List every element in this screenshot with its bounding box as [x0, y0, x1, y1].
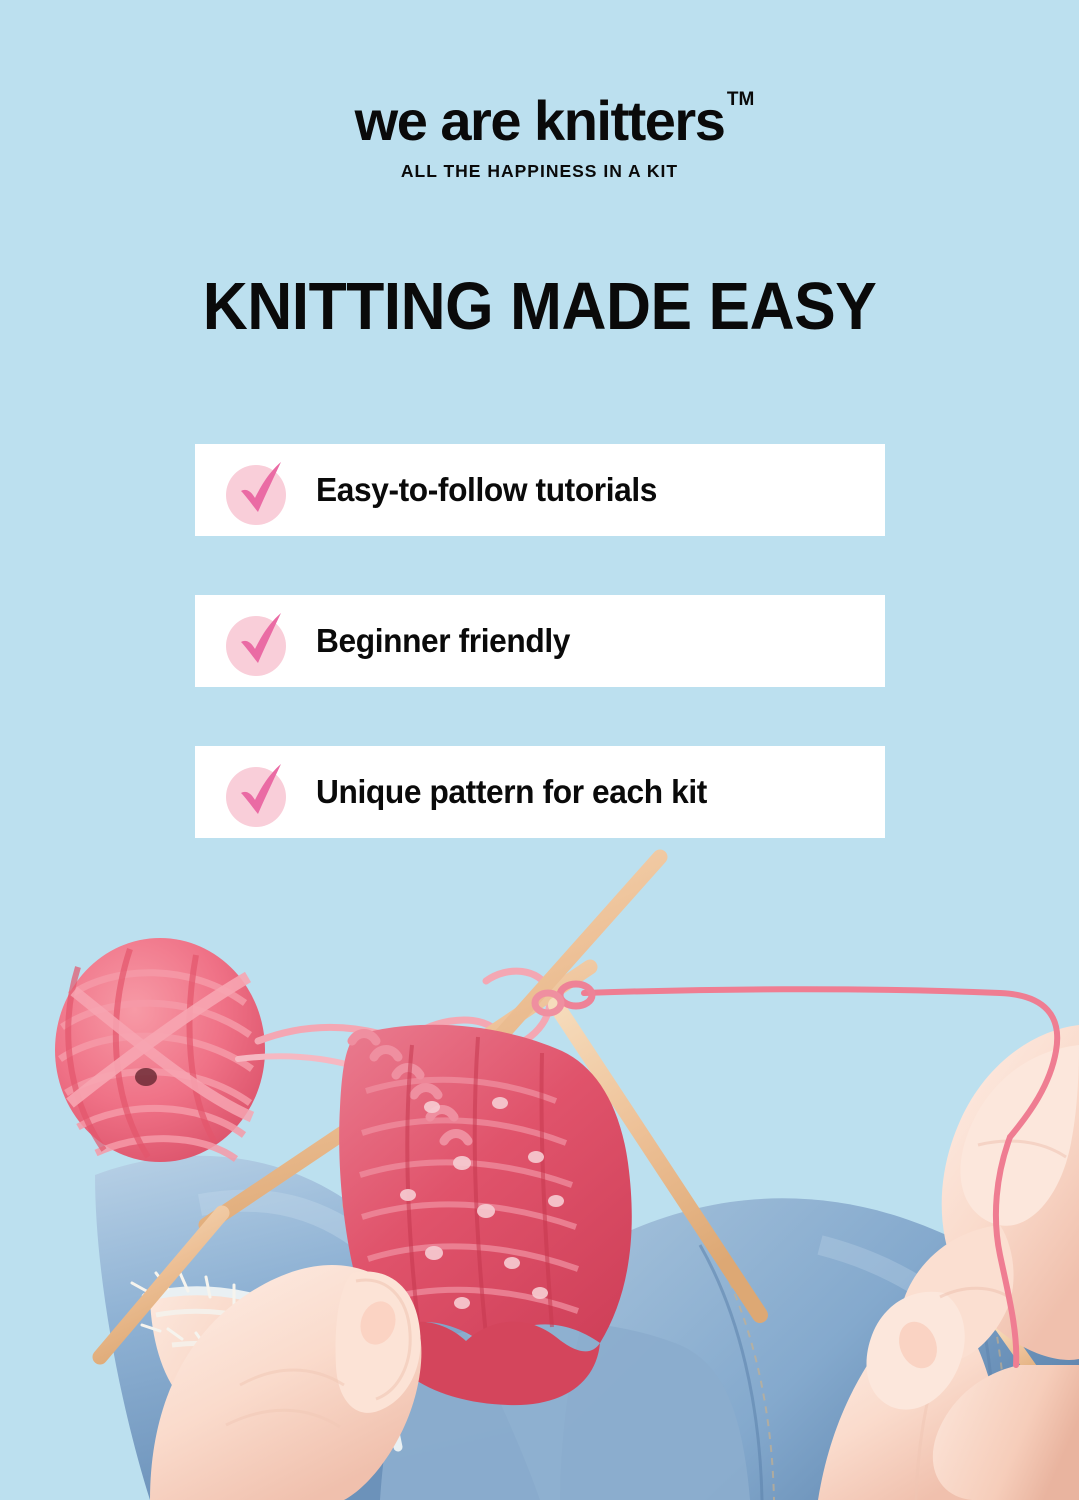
feature-card-1: Easy-to-follow tutorials: [195, 444, 885, 536]
brand-name: we are knitters TM: [355, 92, 725, 151]
feature-label: Unique pattern for each kit: [316, 773, 707, 811]
feature-label: Easy-to-follow tutorials: [316, 471, 657, 509]
feature-card-3: Unique pattern for each kit: [195, 746, 885, 838]
feature-card-2: Beginner friendly: [195, 595, 885, 687]
poster: we are knitters TM ALL THE HAPPINESS IN …: [0, 0, 1079, 1500]
brand-block: we are knitters TM ALL THE HAPPINESS IN …: [0, 92, 1079, 182]
yarn-ball: [55, 938, 265, 1162]
check-icon: [226, 459, 288, 521]
page-title: KNITTING MADE EASY: [38, 268, 1041, 345]
brand-tagline: ALL THE HAPPINESS IN A KIT: [0, 161, 1079, 182]
knitting-photo: [0, 845, 1079, 1500]
check-mark-glyph: [228, 455, 294, 521]
feature-list: Easy-to-follow tutorials Beginner friend…: [195, 444, 885, 838]
yarn-ball-center: [135, 1068, 157, 1086]
check-mark-glyph: [228, 606, 294, 672]
check-icon: [226, 610, 288, 672]
check-icon: [226, 761, 288, 823]
brand-name-text: we are knitters: [355, 89, 725, 152]
trademark-symbol: TM: [727, 90, 754, 110]
feature-label: Beginner friendly: [316, 622, 570, 660]
check-mark-glyph: [228, 757, 294, 823]
